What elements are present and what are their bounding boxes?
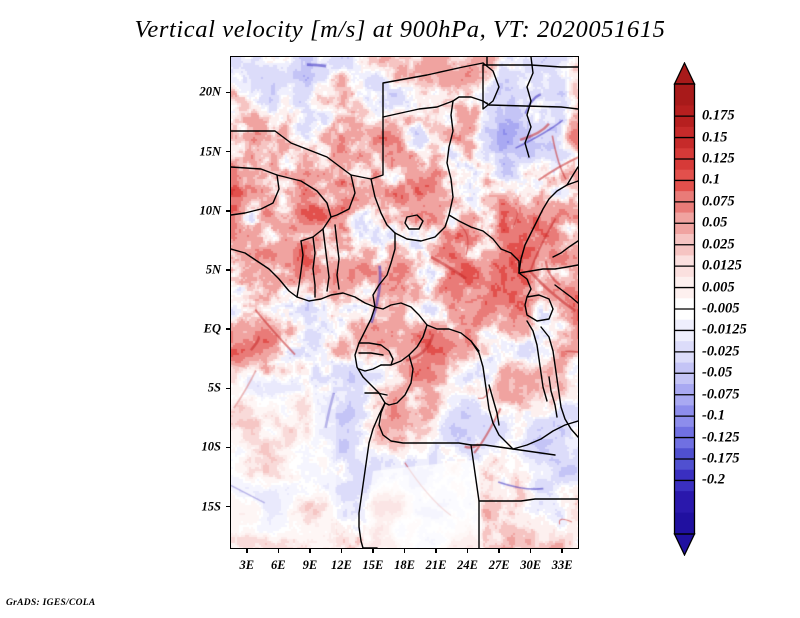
x-axis-label: 6E: [271, 558, 286, 573]
y-axis-label: 10N: [183, 203, 221, 218]
x-axis-label: 18E: [394, 558, 415, 573]
y-axis-label: 5S: [183, 381, 221, 396]
colorbar-tick-label: -0.1: [702, 408, 725, 425]
x-axis-label: 27E: [489, 558, 510, 573]
x-axis-tick: [530, 548, 532, 553]
x-axis-tick: [404, 548, 406, 553]
colorbar-bin: [675, 491, 695, 513]
colorbar-max-extend-cap: [675, 63, 695, 84]
colorbar-tick-label: 0.125: [702, 151, 735, 168]
colorbar-tick-label: -0.125: [702, 429, 739, 446]
colorbar-tick-label: -0.075: [702, 386, 739, 403]
colorbar-min-extend-cap: [675, 534, 695, 555]
colorbar-tick-label: 0.025: [702, 236, 735, 253]
colorbar-bin: [675, 84, 695, 106]
x-axis-label: 24E: [457, 558, 478, 573]
colorbar[interactable]: [673, 62, 696, 556]
page-title: Vertical velocity [m/s] at 900hPa, VT: 2…: [0, 16, 800, 44]
colorbar-tick-label: -0.0125: [702, 322, 747, 339]
map-plot-area[interactable]: [231, 57, 578, 548]
vertical-velocity-heatmap-canvas: [231, 57, 578, 548]
colorbar-bin: [675, 513, 695, 535]
y-axis-tick: [226, 388, 231, 390]
x-axis-tick: [341, 548, 343, 553]
y-axis-label: 15S: [183, 499, 221, 514]
y-axis-tick: [226, 328, 231, 330]
colorbar-tick-label: 0.1: [702, 172, 720, 189]
colorbar-tick-label: 0.0125: [702, 258, 742, 275]
y-axis-tick: [226, 210, 231, 212]
x-axis-label: 33E: [552, 558, 573, 573]
colorbar-tick-label: 0.05: [702, 215, 727, 232]
colorbar-tick-label: 0.005: [702, 279, 735, 296]
x-axis-tick: [498, 548, 500, 553]
x-axis-tick: [246, 548, 248, 553]
y-axis-tick: [226, 506, 231, 508]
colorbar-tick-label: -0.2: [702, 472, 725, 489]
y-axis-tick: [226, 447, 231, 449]
x-axis-tick: [309, 548, 311, 553]
y-axis-label: 5N: [183, 262, 221, 277]
y-axis-tick: [226, 269, 231, 271]
y-axis-label: EQ: [183, 322, 221, 337]
x-axis-tick: [372, 548, 374, 553]
y-axis-label: 10S: [183, 440, 221, 455]
x-axis-label: 15E: [363, 558, 384, 573]
colorbar-tick-label: 0.075: [702, 193, 735, 210]
grads-credit: GrADS: IGES/COLA: [6, 598, 96, 608]
colorbar-tick-label: -0.005: [702, 301, 739, 318]
colorbar-tick-label: -0.025: [702, 343, 739, 360]
x-axis-tick: [278, 548, 280, 553]
y-axis-label: 20N: [183, 85, 221, 100]
y-axis-label: 15N: [183, 144, 221, 159]
x-axis-tick: [467, 548, 469, 553]
colorbar-tick-label: -0.05: [702, 365, 732, 382]
y-axis-tick: [226, 92, 231, 94]
x-axis-label: 21E: [426, 558, 447, 573]
colorbar-tick-label: -0.175: [702, 451, 739, 468]
x-axis-label: 30E: [520, 558, 541, 573]
colorbar-tick-label: 0.15: [702, 129, 727, 146]
x-axis-label: 3E: [239, 558, 254, 573]
colorbar-swatches: [673, 62, 696, 556]
y-axis-tick: [226, 151, 231, 153]
colorbar-tick-label: 0.175: [702, 108, 735, 125]
x-axis-label: 9E: [303, 558, 318, 573]
x-axis-tick: [435, 548, 437, 553]
x-axis-tick: [561, 548, 563, 553]
x-axis-label: 12E: [331, 558, 352, 573]
